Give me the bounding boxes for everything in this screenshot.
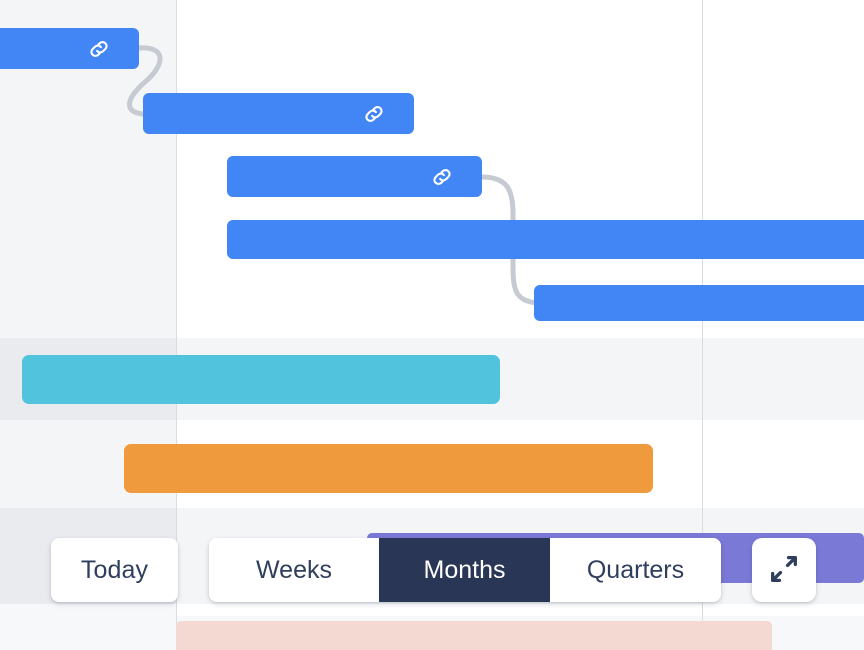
timescale-segmented-control[interactable]: WeeksMonthsQuarters bbox=[209, 538, 721, 602]
segment-label: Weeks bbox=[256, 556, 332, 585]
task-bar-3[interactable] bbox=[227, 156, 482, 197]
task-bar-6[interactable] bbox=[22, 355, 500, 404]
today-button[interactable]: Today bbox=[51, 538, 178, 602]
zoom-months-button[interactable]: Months bbox=[379, 538, 550, 602]
expand-fullscreen-button[interactable] bbox=[752, 538, 816, 602]
link-icon[interactable] bbox=[87, 37, 111, 61]
segment-label: Quarters bbox=[587, 556, 684, 585]
zoom-quarters-button[interactable]: Quarters bbox=[550, 538, 721, 602]
gantt-chart-canvas: Today WeeksMonthsQuarters bbox=[0, 0, 864, 650]
segment-label: Months bbox=[424, 556, 506, 585]
link-icon[interactable] bbox=[430, 165, 454, 189]
link-icon[interactable] bbox=[362, 102, 386, 126]
gantt-row bbox=[0, 604, 864, 616]
task-bar-2[interactable] bbox=[143, 93, 414, 134]
task-bar-5[interactable] bbox=[534, 285, 864, 321]
gantt-row-sidebar-cell bbox=[0, 258, 176, 338]
task-bar-9[interactable] bbox=[176, 621, 772, 650]
expand-arrows-icon bbox=[767, 552, 801, 589]
zoom-weeks-button[interactable]: Weeks bbox=[209, 538, 379, 602]
gantt-row-sidebar-cell bbox=[0, 604, 176, 616]
task-bar-4[interactable] bbox=[227, 220, 864, 259]
task-bar-7[interactable] bbox=[124, 444, 653, 493]
gantt-row-sidebar-cell bbox=[0, 172, 176, 258]
task-bar-1[interactable] bbox=[0, 28, 139, 69]
gantt-row-sidebar-cell bbox=[0, 616, 176, 650]
